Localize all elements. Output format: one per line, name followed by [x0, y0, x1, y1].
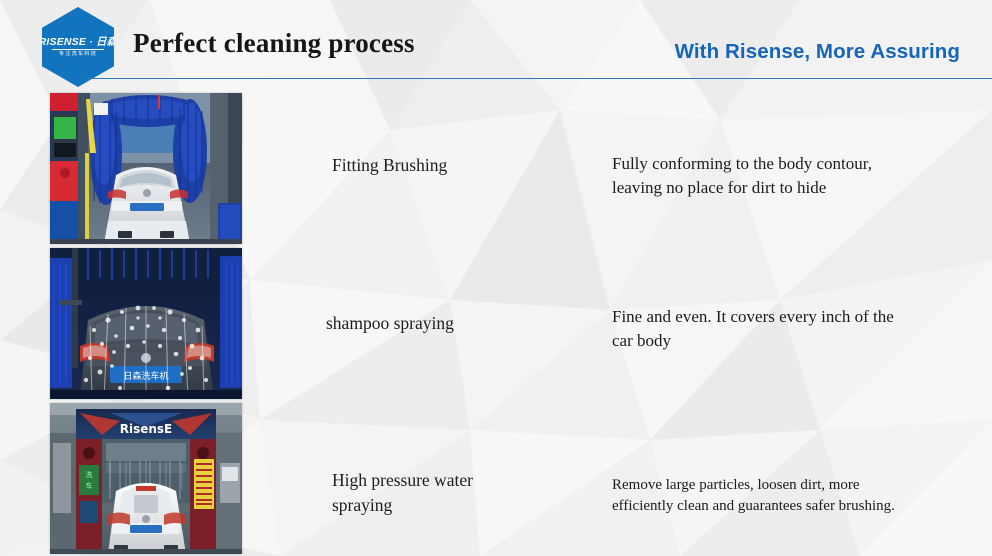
step-2-name: shampoo spraying: [326, 311, 454, 336]
slide-text-layer: Fitting Brushing Fully conforming to the…: [0, 0, 992, 556]
step-3-name: High pressure water spraying: [332, 468, 473, 517]
slide-root: RISENSE · 日森 专注洗车科技 Perfect cleaning pro…: [0, 0, 992, 556]
step-2-description: Fine and even. It covers every inch of t…: [612, 305, 894, 353]
step-1-name: Fitting Brushing: [332, 153, 447, 178]
step-1-description: Fully conforming to the body contour, le…: [612, 152, 872, 200]
step-3-description: Remove large particles, loosen dirt, mor…: [612, 475, 895, 516]
